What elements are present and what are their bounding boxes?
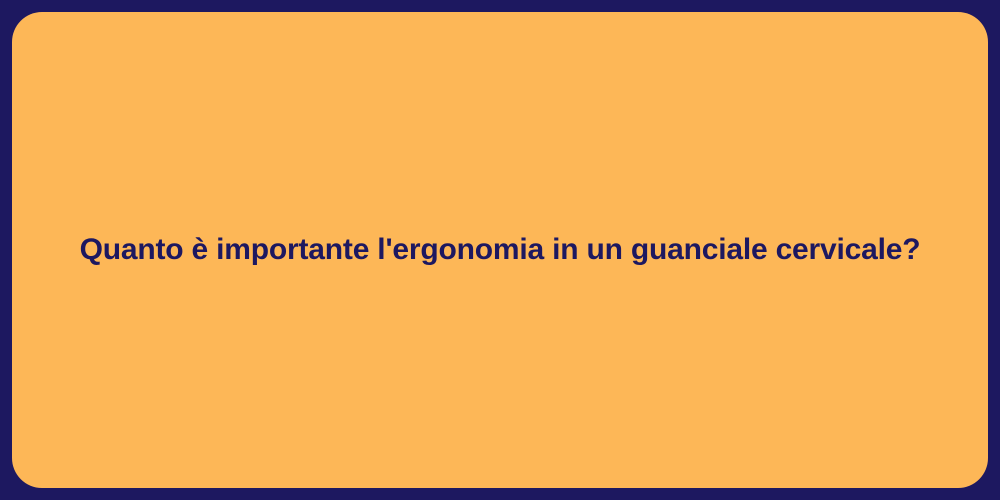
page-title: Quanto è importante l'ergonomia in un gu… xyxy=(12,231,988,269)
banner-frame: Quanto è importante l'ergonomia in un gu… xyxy=(0,0,1000,500)
banner-card: Quanto è importante l'ergonomia in un gu… xyxy=(12,12,988,488)
